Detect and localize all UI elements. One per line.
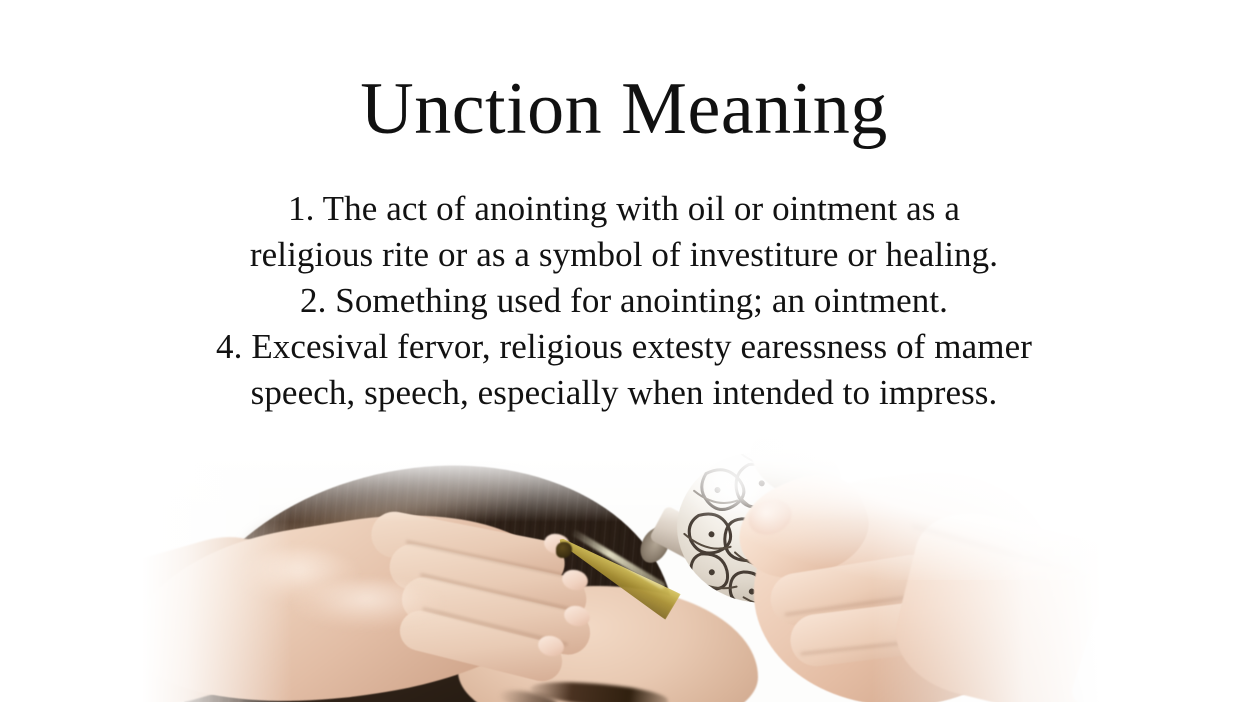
slide-canvas: Unction Meaning 1. The act of anointing … — [0, 0, 1248, 702]
definition-line: 1. The act of anointing with oil or oint… — [0, 186, 1248, 232]
page-title: Unction Meaning — [0, 66, 1248, 152]
definition-line: speech, speech, especially when intended… — [0, 370, 1248, 416]
definition-line: 2. Something used for anointing; an oint… — [0, 278, 1248, 324]
definition-line: 4. Excesival fervor, religious extesty e… — [0, 324, 1248, 370]
definition-line: religious rite or as a symbol of investi… — [0, 232, 1248, 278]
photo-content — [142, 430, 1102, 702]
definition-list: 1. The act of anointing with oil or oint… — [0, 186, 1248, 416]
knuckle-highlight — [292, 580, 442, 628]
anointing-photo — [142, 430, 1102, 702]
